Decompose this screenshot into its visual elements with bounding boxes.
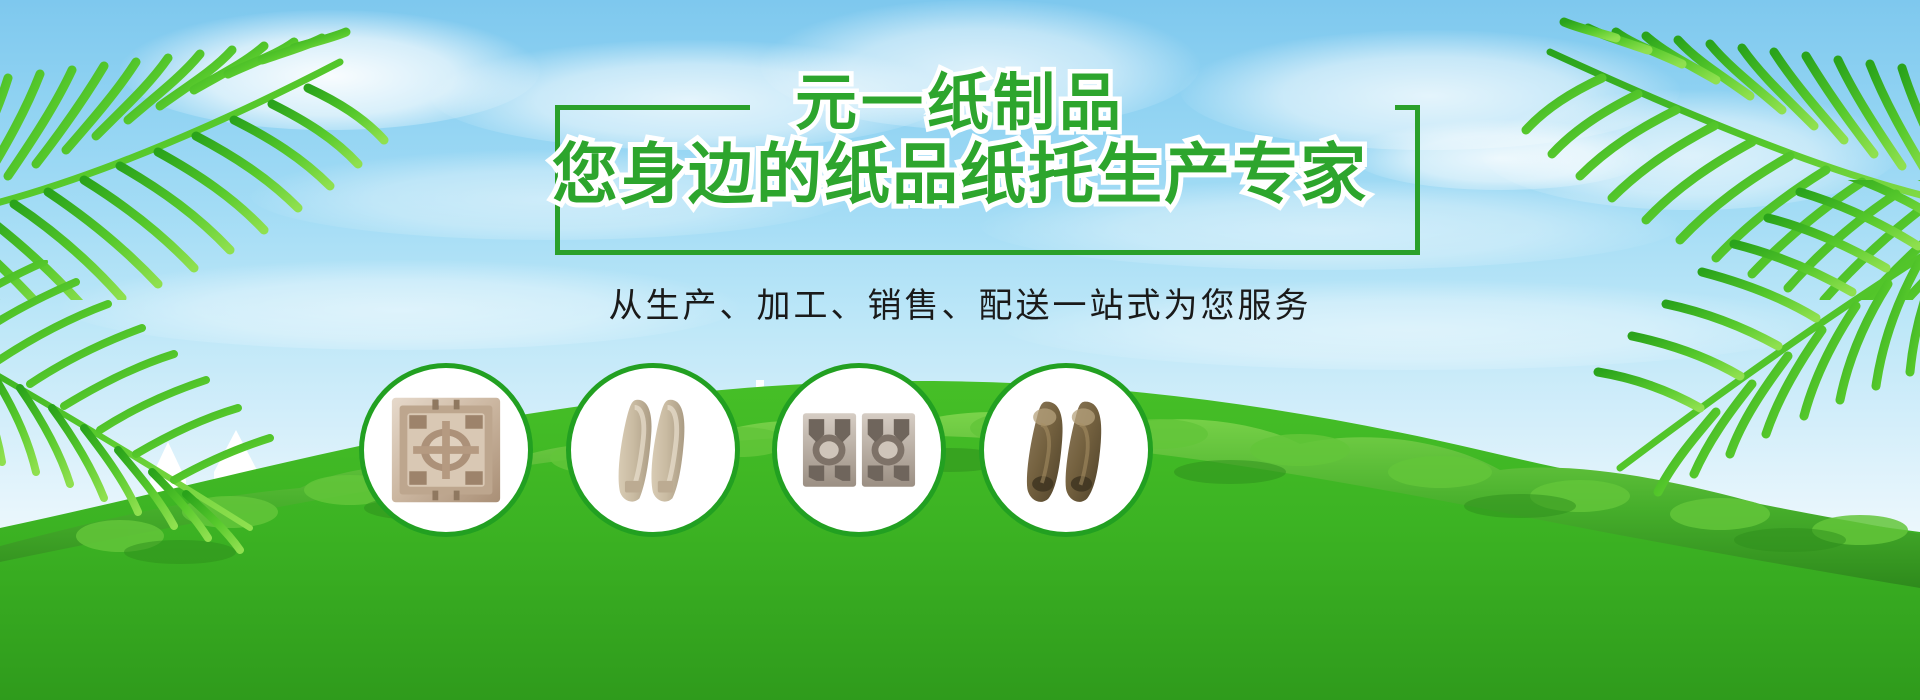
promo-banner: 元一纸制品 您身边的纸品纸托生产专家 从生产、加工、销售、配送一站式为您服务 (0, 0, 1920, 700)
product-circle-3[interactable] (772, 363, 946, 537)
molded-pulp-shoe-insert-pair-icon (595, 392, 711, 508)
brand-title-row: 元一纸制品 (0, 72, 1920, 134)
product-circle-1[interactable] (359, 363, 533, 537)
headline-block: 元一纸制品 您身边的纸品纸托生产专家 从生产、加工、销售、配送一站式为您服务 (0, 0, 1920, 340)
molded-pulp-tray-square-icon (388, 392, 504, 508)
product-circle-2[interactable] (566, 363, 740, 537)
product-circle-4[interactable] (979, 363, 1153, 537)
brand-title: 元一纸制品 (795, 72, 1125, 134)
molded-pulp-shoe-tree-pair-icon (1008, 392, 1124, 508)
tagline-text: 从生产、加工、销售、配送一站式为您服务 (0, 278, 1920, 327)
headline-row: 您身边的纸品纸托生产专家 (0, 140, 1920, 209)
molded-pulp-tray-pair-icon (801, 392, 917, 508)
headline-text: 您身边的纸品纸托生产专家 (552, 140, 1368, 209)
